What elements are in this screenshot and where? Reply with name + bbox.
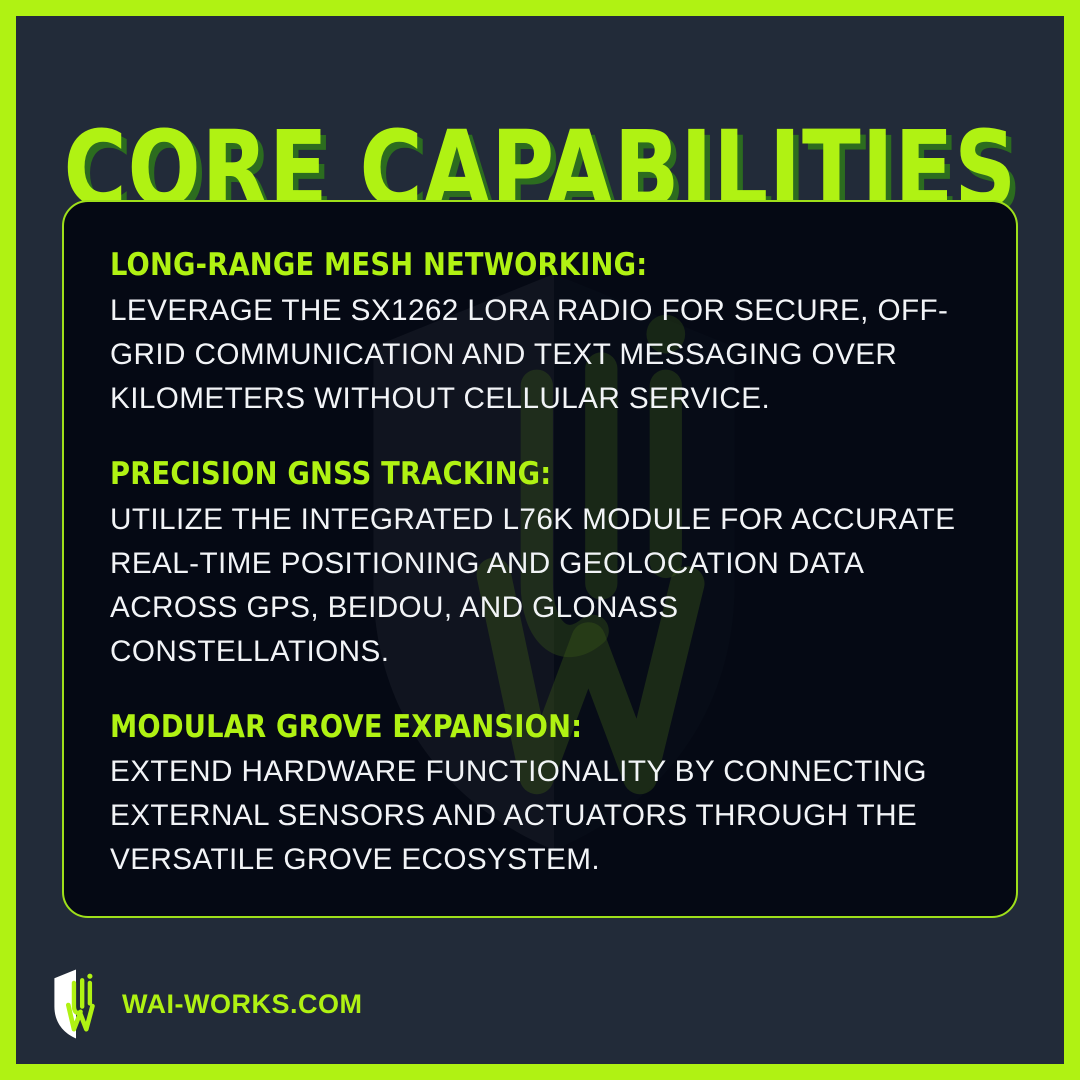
capability-description: EXTEND HARDWARE FUNCTIONALITY BY CONNECT… — [110, 750, 959, 882]
capability-section: MODULAR GROVE EXPANSION: EXTEND HARDWARE… — [110, 708, 968, 883]
capability-section: PRECISION GNSS TRACKING: UTILIZE THE INT… — [110, 455, 968, 674]
capability-section: LONG-RANGE MESH NETWORKING: LEVERAGE THE… — [110, 246, 968, 421]
capability-heading: MODULAR GROVE EXPANSION: — [110, 708, 951, 747]
footer: WAI-WORKS.COM — [46, 968, 362, 1040]
poster-root: CORE CAPABILITIES — [0, 0, 1080, 1080]
wai-works-shield-logo-icon — [46, 968, 106, 1040]
poster-canvas: CORE CAPABILITIES — [16, 16, 1064, 1064]
capability-description: UTILIZE THE INTEGRATED L76K MODULE FOR A… — [110, 498, 959, 674]
capability-heading: LONG-RANGE MESH NETWORKING: — [110, 246, 951, 285]
capability-heading: PRECISION GNSS TRACKING: — [110, 455, 951, 494]
footer-website-url[interactable]: WAI-WORKS.COM — [122, 989, 362, 1020]
capabilities-card: LONG-RANGE MESH NETWORKING: LEVERAGE THE… — [62, 200, 1018, 918]
capability-description: LEVERAGE THE SX1262 LORA RADIO FOR SECUR… — [110, 289, 959, 421]
card-content: LONG-RANGE MESH NETWORKING: LEVERAGE THE… — [64, 202, 1016, 882]
